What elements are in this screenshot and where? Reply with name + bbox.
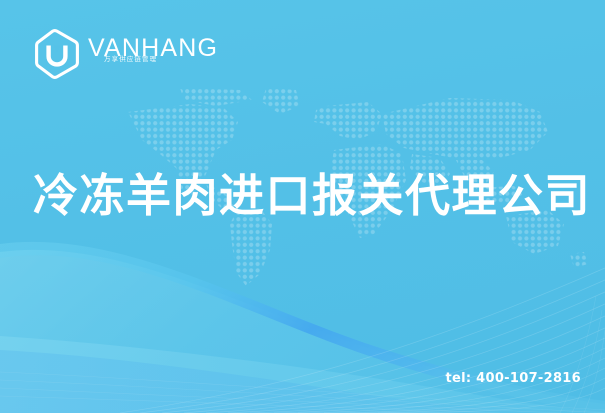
logo-chinese-subtitle: 万享供应链管理: [104, 53, 157, 63]
promo-banner: VANHANG 万享供应链管理 冷冻羊肉进口报关代理公司 tel: 400-10…: [0, 0, 605, 413]
brand-logo: VANHANG 万享供应链管理: [32, 27, 218, 81]
logo-text-block: VANHANG 万享供应链管理: [88, 33, 218, 75]
page-title: 冷冻羊肉进口报关代理公司: [33, 168, 593, 224]
hexagon-u-logo-icon: [32, 28, 82, 80]
contact-phone: tel: 400-107-2816: [445, 371, 581, 386]
